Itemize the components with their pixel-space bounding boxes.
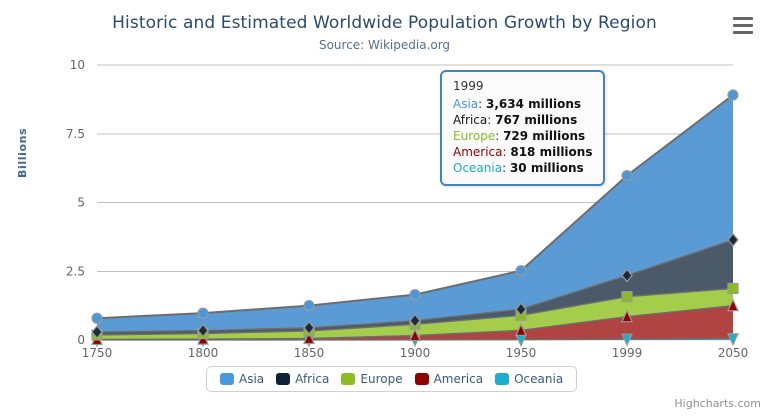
legend-item-asia[interactable]: Asia (217, 372, 267, 386)
tooltip-series-value: 30 millions (510, 161, 584, 175)
tooltip-series-value: 729 millions (503, 129, 585, 143)
series-areas (97, 95, 733, 340)
legend-item-america[interactable]: America (412, 372, 487, 386)
legend-label: Europe (360, 372, 402, 386)
y-axis-tick-labels: 02.557.510 (66, 58, 85, 347)
x-axis-tick-labels: 1750180018501900195019992050 (82, 346, 749, 360)
marker-europe[interactable] (728, 283, 738, 293)
legend-swatch-icon (276, 373, 290, 385)
legend-swatch-icon (415, 373, 429, 385)
y-tick-label: 7.5 (66, 127, 85, 141)
marker-europe[interactable] (622, 292, 632, 302)
x-tick-label: 1850 (294, 346, 325, 360)
tooltip-series-value: 818 millions (510, 145, 592, 159)
legend-swatch-icon (341, 373, 355, 385)
marker-asia[interactable] (198, 308, 208, 318)
x-tick-label: 1999 (612, 346, 643, 360)
legend-item-oceania[interactable]: Oceania (492, 372, 566, 386)
tooltip-series-name: Africa (453, 113, 487, 127)
y-tick-label: 0 (77, 333, 85, 347)
x-tick-label: 1950 (506, 346, 537, 360)
tooltip-row: Europe: 729 millions (453, 128, 592, 144)
tooltip-header: 1999 (453, 79, 592, 93)
legend-label: Oceania (514, 372, 563, 386)
plot-area: 02.557.510 1750180018501900195019992050 (0, 0, 769, 416)
tooltip-row: Oceania: 30 millions (453, 160, 592, 176)
legend-item-africa[interactable]: Africa (273, 372, 332, 386)
marker-asia[interactable] (92, 313, 102, 323)
x-tick-label: 1800 (188, 346, 219, 360)
tooltip-series-value: 3,634 millions (486, 97, 581, 111)
legend-swatch-icon (495, 373, 509, 385)
legend-label: America (434, 372, 484, 386)
marker-asia[interactable] (728, 90, 738, 100)
tooltip-series-name: Oceania (453, 161, 502, 175)
marker-asia[interactable] (304, 301, 314, 311)
tooltip-separator: : (478, 97, 486, 111)
tooltip-series-name: America (453, 145, 503, 159)
legend: AsiaAfricaEuropeAmericaOceania (206, 366, 577, 392)
x-tick-label: 1750 (82, 346, 113, 360)
tooltip-separator: : (502, 161, 510, 175)
y-tick-label: 5 (77, 196, 85, 210)
legend-label: Africa (295, 372, 329, 386)
tooltip-separator: : (495, 129, 503, 143)
tooltip-row: Asia: 3,634 millions (453, 96, 592, 112)
marker-asia[interactable] (516, 266, 526, 276)
tooltip-row: Africa: 767 millions (453, 112, 592, 128)
tooltip-separator: : (487, 113, 495, 127)
tooltip-rows: Asia: 3,634 millionsAfrica: 767 millions… (453, 96, 592, 176)
y-tick-label: 2.5 (66, 264, 85, 278)
tooltip-row: America: 818 millions (453, 144, 592, 160)
tooltip-series-name: Asia (453, 97, 478, 111)
marker-asia[interactable] (622, 171, 632, 181)
x-tick-label: 1900 (400, 346, 431, 360)
legend-label: Asia (239, 372, 264, 386)
tooltip: 1999 Asia: 3,634 millionsAfrica: 767 mil… (440, 70, 605, 186)
tooltip-series-name: Europe (453, 129, 495, 143)
y-tick-label: 10 (70, 58, 85, 72)
highcharts-container: Historic and Estimated Worldwide Populat… (0, 0, 769, 416)
tooltip-series-value: 767 millions (495, 113, 577, 127)
legend-item-europe[interactable]: Europe (338, 372, 405, 386)
marker-asia[interactable] (410, 290, 420, 300)
x-tick-label: 2050 (718, 346, 749, 360)
credits-label: Highcharts.com (674, 397, 761, 410)
legend-swatch-icon (220, 373, 234, 385)
